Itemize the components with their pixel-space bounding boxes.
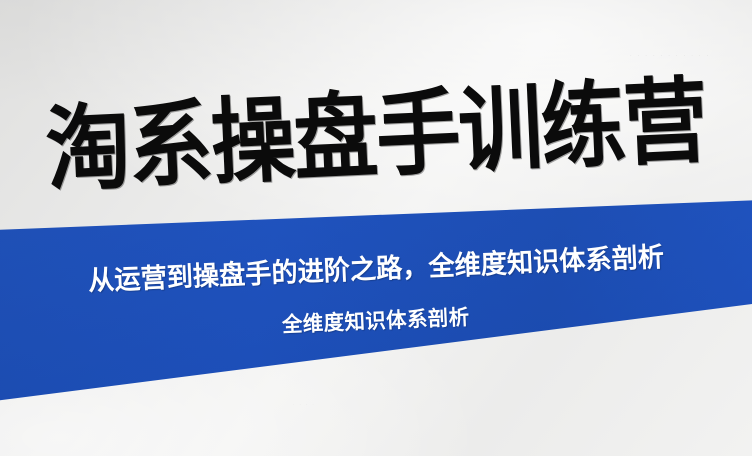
course-poster: 淘系操盘手训练营 从运营到操盘手的进阶之路，全维度知识体系剖析 全维度知识体系剖… — [0, 0, 752, 456]
poster-title-text: 淘系操盘手训练营 — [44, 74, 708, 197]
poster-title: 淘系操盘手训练营 — [0, 75, 752, 197]
watermark-top-right: · · · · · · · · · · · — [630, 53, 711, 59]
watermark-bottom-center: · · · · — [293, 402, 316, 407]
